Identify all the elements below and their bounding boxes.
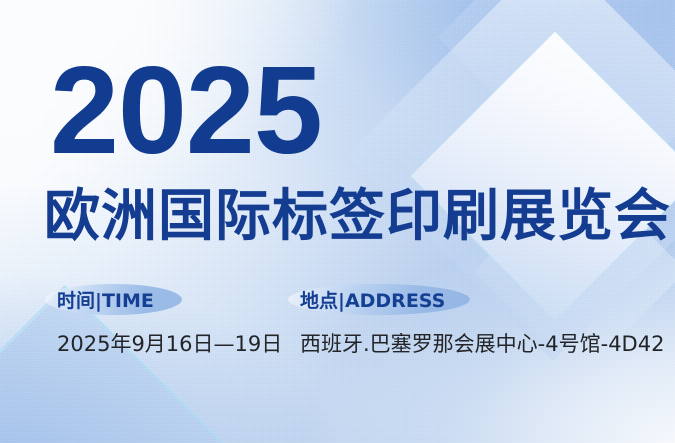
address-label: 地点|ADDRESS bbox=[300, 283, 445, 313]
banner-content: 2025 欧洲国际标签印刷展览会 时间|TIME 2025年9月16日—19日 … bbox=[0, 0, 675, 443]
address-value: 西班牙.巴塞罗那会展中心-4号馆-4D42 bbox=[300, 328, 664, 358]
banner-info-row: 时间|TIME 2025年9月16日—19日 地点|ADDRESS 西班牙.巴塞… bbox=[0, 283, 675, 373]
time-value: 2025年9月16日—19日 bbox=[57, 328, 282, 358]
banner-year: 2025 bbox=[50, 49, 322, 173]
info-block-time: 时间|TIME 2025年9月16日—19日 bbox=[57, 283, 282, 358]
address-label-wrap: 地点|ADDRESS bbox=[300, 283, 445, 317]
time-label-wrap: 时间|TIME bbox=[57, 283, 154, 317]
info-block-address: 地点|ADDRESS 西班牙.巴塞罗那会展中心-4号馆-4D42 bbox=[300, 283, 664, 358]
time-label: 时间|TIME bbox=[57, 283, 154, 313]
exhibition-banner: 2025 欧洲国际标签印刷展览会 时间|TIME 2025年9月16日—19日 … bbox=[0, 0, 675, 443]
banner-title-chinese: 欧洲国际标签印刷展览会 bbox=[44, 186, 671, 248]
